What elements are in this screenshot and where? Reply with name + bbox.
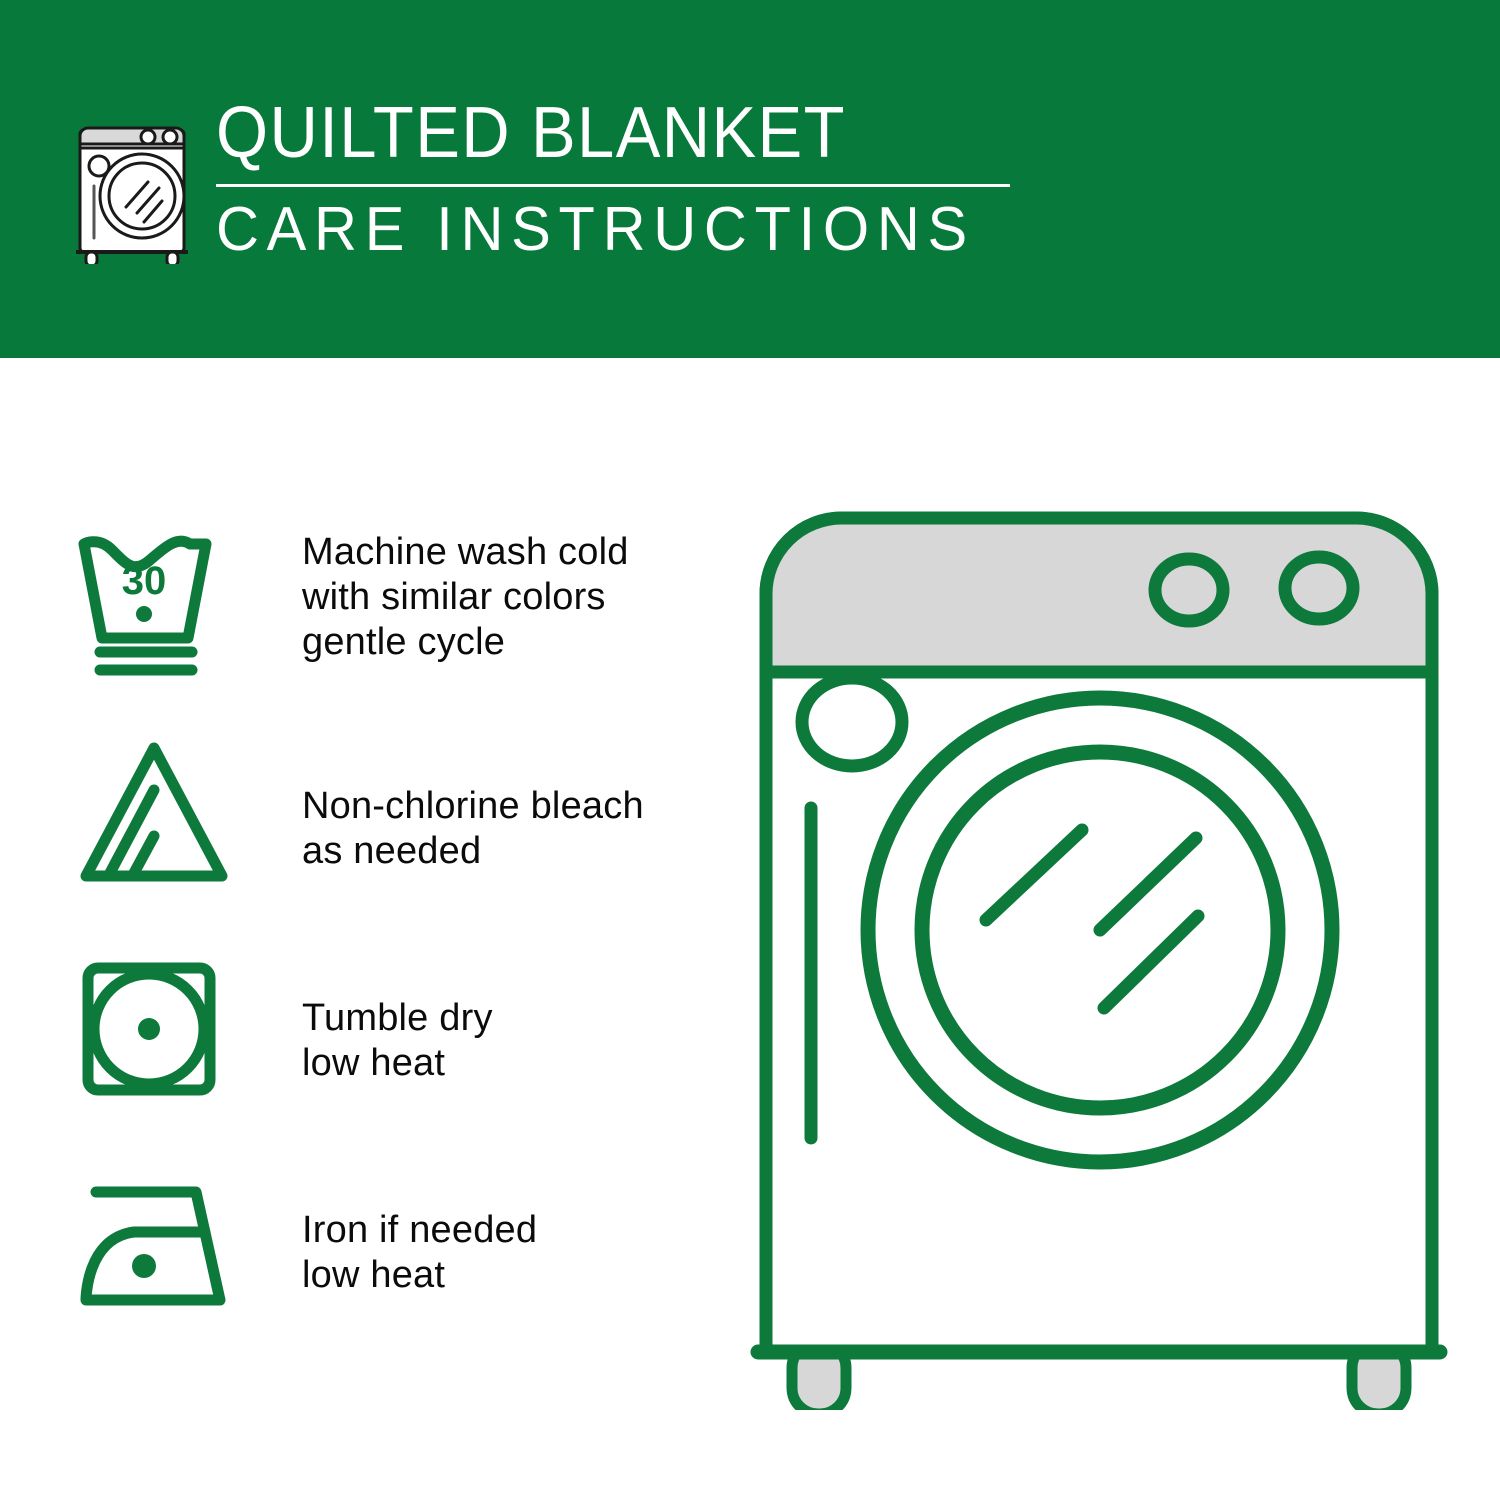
header-divider	[216, 184, 1010, 187]
knob-left	[1155, 559, 1223, 621]
header-text-block: QUILTED BLANKET CARE INSTRUCTIONS	[216, 96, 1016, 263]
wash-tub-30-gentle-icon: 30	[72, 526, 236, 676]
list-item: Non-chlorine bleach as needed	[72, 730, 712, 948]
list-item: 30 Machine wash cold with similar colors…	[72, 512, 712, 730]
washing-machine-icon	[66, 104, 198, 264]
page-subtitle: CARE INSTRUCTIONS	[216, 197, 984, 263]
care-instruction-list: 30 Machine wash cold with similar colors…	[72, 512, 712, 1384]
care-instruction-text: Iron if needed low heat	[236, 1208, 537, 1298]
iron-low-heat-icon	[72, 1174, 236, 1324]
detergent-indicator	[802, 678, 902, 766]
care-instruction-text: Non-chlorine bleach as needed	[236, 784, 644, 874]
list-item: Tumble dry low heat	[72, 948, 712, 1166]
list-item: Iron if needed low heat	[72, 1166, 712, 1384]
wash-temperature-value: 30	[122, 559, 167, 603]
knob-right	[1285, 557, 1353, 619]
front-load-washing-machine-illustration	[748, 500, 1448, 1410]
triangle-non-chlorine-bleach-icon	[72, 738, 236, 888]
care-instructions-infographic: QUILTED BLANKET CARE INSTRUCTIONS 30 Mac…	[0, 0, 1500, 1500]
care-instruction-text: Tumble dry low heat	[236, 996, 493, 1086]
tumble-dry-low-heat-icon	[72, 954, 236, 1104]
header-banner: QUILTED BLANKET CARE INSTRUCTIONS	[0, 0, 1500, 358]
page-title: QUILTED BLANKET	[216, 96, 960, 170]
care-instruction-text: Machine wash cold with similar colors ge…	[236, 530, 629, 665]
